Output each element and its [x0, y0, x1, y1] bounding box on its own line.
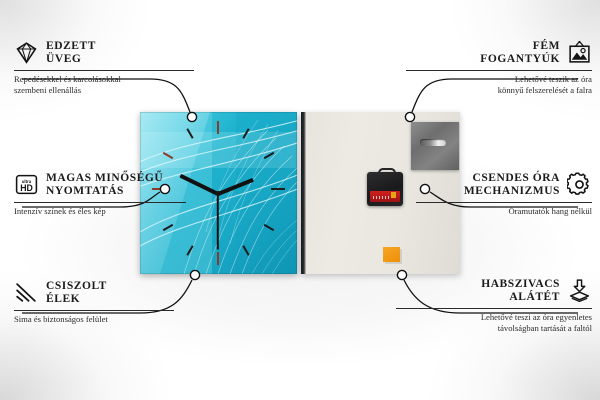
diamond-icon [14, 40, 39, 65]
feature-subtitle: Óramutatók hang nélkül [416, 206, 592, 217]
subtitle-line1: Repedésekkel és karcolásokkal [14, 74, 121, 84]
feature-high-quality-print: ultra HD MAGAS MINŐSÉGŰ NYOMTATÁS Intenz… [14, 172, 186, 217]
feature-title-line2: ALÁTÉT [481, 291, 560, 303]
feature-title-line2: FOGANTYÚK [480, 53, 560, 65]
feature-title-line1: HABSZIVACS [481, 278, 560, 290]
feature-subtitle: Lehetővé teszi az óra egyenletes távolsá… [396, 312, 592, 335]
divider [14, 202, 186, 203]
feature-title-line1: FÉM [480, 40, 560, 52]
feature-tempered-glass: EDZETT ÜVEG Repedésekkel és karcolásokka… [14, 40, 194, 97]
foam-pad-press-icon [567, 278, 592, 303]
clock-mechanism-box [367, 168, 403, 206]
battery [370, 191, 400, 202]
metal-hanger-plate [411, 122, 459, 170]
subtitle-line1: Lehetővé teszik az óra [515, 74, 592, 84]
product-image [140, 112, 460, 274]
feature-subtitle: Lehetővé teszik az óra könnyű felszerelé… [406, 74, 592, 97]
feature-title-line2: NYOMTATÁS [46, 185, 163, 197]
infographic-canvas: EDZETT ÜVEG Repedésekkel és karcolásokka… [0, 0, 600, 400]
feature-subtitle: Repedésekkel és karcolásokkal szembeni e… [14, 74, 194, 97]
gear-icon [567, 172, 592, 197]
feature-silent-mechanism: CSENDES ÓRA MECHANIZMUS Óramutatók hang … [416, 172, 592, 217]
divider [14, 70, 194, 71]
feature-polished-edges: CSISZOLT ÉLEK Sima és biztonságos felüle… [14, 280, 174, 325]
svg-text:HD: HD [20, 183, 33, 193]
feature-foam-spacer: HABSZIVACS ALÁTÉT Lehetővé teszi az óra … [396, 278, 592, 335]
ultra-hd-badge-icon: ultra HD [14, 172, 39, 197]
subtitle-line1: Lehetővé teszi az óra egyenletes [481, 312, 592, 322]
beveled-edges-icon [14, 280, 39, 305]
feature-subtitle: Sima és biztonságos felület [14, 314, 174, 325]
feature-title-line1: CSISZOLT [46, 280, 107, 292]
feature-title-line1: CSENDES ÓRA [464, 172, 560, 184]
divider [14, 310, 174, 311]
hanger-keyhole-slot [420, 139, 446, 146]
feature-title-line2: ÜVEG [46, 53, 96, 65]
feature-metal-handles: FÉM FOGANTYÚK Lehetővé teszik az óra kön… [406, 40, 592, 97]
second-hand [217, 194, 219, 250]
subtitle-line2: szembeni ellenállás [14, 85, 81, 95]
divider [416, 202, 592, 203]
feature-title-line2: MECHANIZMUS [464, 185, 560, 197]
feature-title-line1: EDZETT [46, 40, 96, 52]
feature-subtitle: Intenzív színek és éles kép [14, 206, 186, 217]
hands-center-cap [216, 191, 221, 196]
picture-frame-hanger-icon [567, 40, 592, 65]
divider [396, 308, 592, 309]
subtitle-line2: távolságban tartását a faltól [498, 323, 592, 333]
divider [406, 70, 592, 71]
subtitle-line2: könnyű felszerelését a falra [498, 85, 592, 95]
feature-title-line2: ÉLEK [46, 293, 107, 305]
feature-title-line1: MAGAS MINŐSÉGŰ [46, 172, 163, 184]
foam-spacer-pad [383, 247, 400, 262]
